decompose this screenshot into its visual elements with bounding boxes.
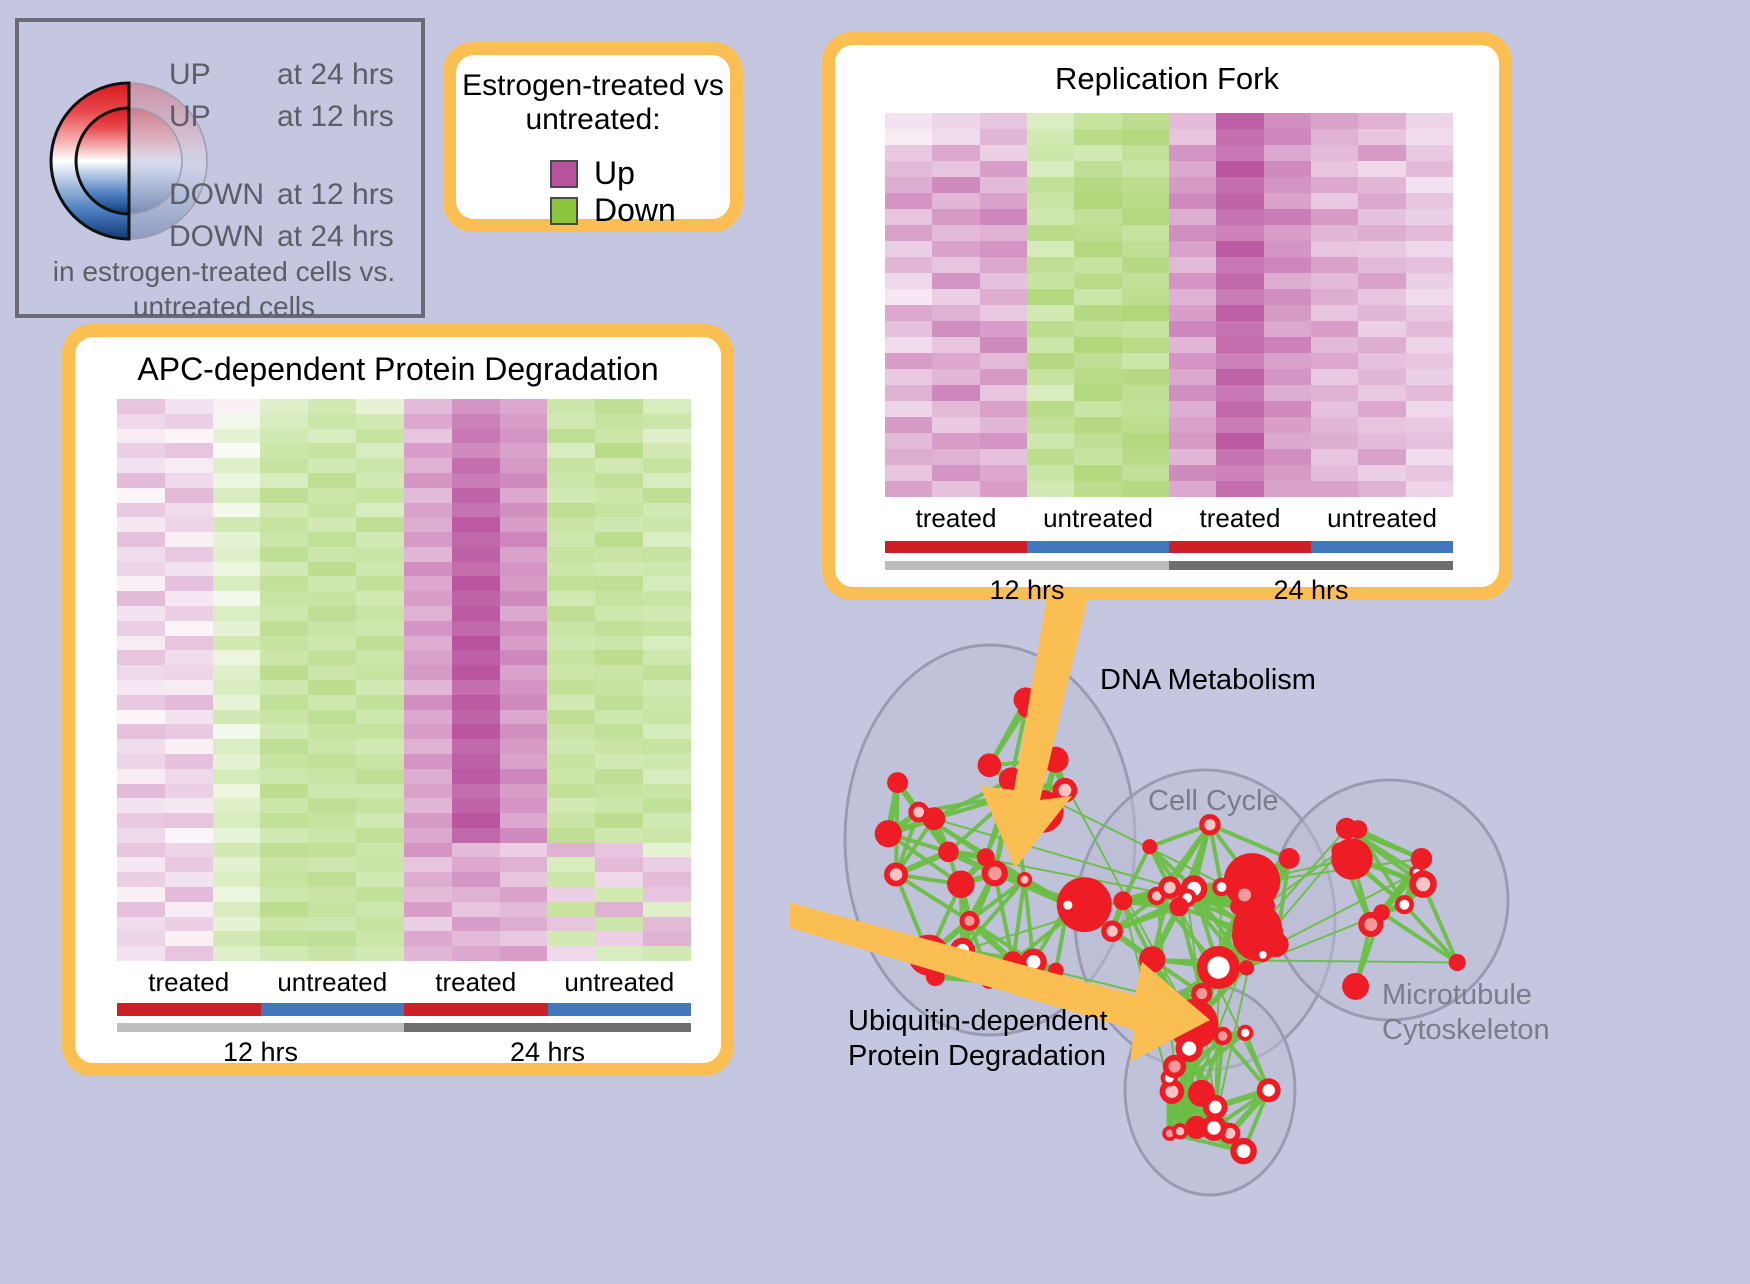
heatmap-cell <box>260 473 308 488</box>
heatmap-cell <box>1169 465 1216 481</box>
heatmap-cell <box>1311 369 1358 385</box>
heatmap-cell <box>165 547 213 562</box>
heatmap-cell <box>1027 369 1074 385</box>
heatmap-cell <box>1264 353 1311 369</box>
heatmap-cell <box>1216 433 1263 449</box>
heatmap-cell <box>595 887 643 902</box>
heatmap-cell <box>500 887 548 902</box>
heatmap-cell <box>117 458 165 473</box>
treatment-bar-segment <box>548 1003 692 1016</box>
heatmap-cell <box>165 739 213 754</box>
heatmap-cell <box>260 458 308 473</box>
heatmap-cell <box>1264 321 1311 337</box>
heatmap-cell <box>547 902 595 917</box>
heatmap-cell <box>452 414 500 429</box>
heatmap-cell <box>117 784 165 799</box>
heatmap-cell <box>452 503 500 518</box>
heatmap-cell <box>595 798 643 813</box>
heatmap-cell <box>980 449 1027 465</box>
heatmap-cell <box>356 710 404 725</box>
heatmap-cell <box>932 177 979 193</box>
heatmap-cell <box>165 695 213 710</box>
heatmap-cell <box>1406 481 1453 497</box>
heatmap-cell <box>1264 481 1311 497</box>
heatmap-cell <box>595 784 643 799</box>
heatmap-cell <box>1122 273 1169 289</box>
heatmap-cell <box>1169 241 1216 257</box>
legend-direction-rows: UP at 24 hrs UP at 12 hrs DOWN at 12 hrs… <box>169 58 419 262</box>
heatmap-cell <box>500 769 548 784</box>
heatmap-cell <box>117 872 165 887</box>
heatmap-cell <box>595 606 643 621</box>
heatmap-cell <box>500 917 548 932</box>
apc-time-bar <box>117 1023 691 1032</box>
heatmap-cell <box>308 784 356 799</box>
heatmap-cell <box>1216 369 1263 385</box>
heatmap-cell <box>404 724 452 739</box>
heatmap-cell <box>547 739 595 754</box>
heatmap-cell <box>117 414 165 429</box>
heatmap-cell <box>356 399 404 414</box>
heatmap-cell <box>1264 417 1311 433</box>
heatmap-cell <box>1264 289 1311 305</box>
heatmap-cell <box>260 665 308 680</box>
heatmap-cell <box>595 576 643 591</box>
heatmap-cell <box>547 931 595 946</box>
heatmap-cell <box>547 843 595 858</box>
heatmap-cell <box>213 754 261 769</box>
heatmap-cell <box>1074 433 1121 449</box>
heatmap-cell <box>932 273 979 289</box>
heatmap-cell <box>165 828 213 843</box>
heatmap-cell <box>595 857 643 872</box>
heatmap-cell <box>1406 177 1453 193</box>
heatmap-cell <box>595 813 643 828</box>
heatmap-cell <box>885 225 932 241</box>
heatmap-cell <box>117 754 165 769</box>
heatmap-cell <box>356 532 404 547</box>
heatmap-cell <box>1122 241 1169 257</box>
heatmap-cell <box>308 813 356 828</box>
heatmap-cell <box>1169 209 1216 225</box>
heatmap-cell <box>885 145 932 161</box>
heatmap-cell <box>213 399 261 414</box>
heatmap-cell <box>356 917 404 932</box>
heatmap-cell <box>595 591 643 606</box>
network-node <box>1255 896 1275 916</box>
heatmap-cell <box>1027 481 1074 497</box>
heatmap-cell <box>980 161 1027 177</box>
heatmap-cell <box>1406 417 1453 433</box>
heatmap-cell <box>1169 225 1216 241</box>
heatmap-cell <box>1027 129 1074 145</box>
heatmap-cell <box>213 902 261 917</box>
heatmap-cell <box>547 547 595 562</box>
heatmap-cell <box>595 665 643 680</box>
heatmap-cell <box>595 532 643 547</box>
heatmap-cell <box>117 917 165 932</box>
color-key-panel: Estrogen-treated vs untreated: Up Down <box>443 42 743 232</box>
heatmap-cell <box>643 828 691 843</box>
heatmap-cell <box>404 798 452 813</box>
heatmap-cell <box>404 695 452 710</box>
heatmap-cell <box>500 636 548 651</box>
heatmap-cell <box>595 458 643 473</box>
heatmap-cell <box>356 591 404 606</box>
heatmap-cell <box>404 547 452 562</box>
replication-fork-treatment-bar <box>885 541 1453 553</box>
heatmap-cell <box>1027 241 1074 257</box>
heatmap-cell <box>932 241 979 257</box>
legend-direction: DOWN <box>169 178 277 212</box>
treatment-bar-segment <box>117 1003 261 1016</box>
heatmap-cell <box>452 784 500 799</box>
panel-title: APC-dependent Protein Degradation <box>75 351 721 388</box>
heatmap-cell <box>547 917 595 932</box>
heatmap-cell <box>1027 257 1074 273</box>
heatmap-cell <box>932 337 979 353</box>
heatmap-cell <box>1074 369 1121 385</box>
heatmap-cell <box>1122 193 1169 209</box>
heatmap-cell <box>1169 401 1216 417</box>
heatmap-cell <box>1311 481 1358 497</box>
heatmap-cell <box>1216 193 1263 209</box>
heatmap-cell <box>932 209 979 225</box>
heatmap-cell <box>1027 161 1074 177</box>
heatmap-cell <box>500 473 548 488</box>
heatmap-cell <box>165 798 213 813</box>
heatmap-cell <box>1358 257 1405 273</box>
heatmap-cell <box>1311 257 1358 273</box>
heatmap-cell <box>1358 417 1405 433</box>
heatmap-cell <box>260 532 308 547</box>
legend-caption: in estrogen-treated cells vs. untreated … <box>41 254 407 324</box>
network-node <box>1342 973 1369 1000</box>
heatmap-cell <box>404 887 452 902</box>
heatmap-cell <box>356 621 404 636</box>
heatmap-cell <box>885 289 932 305</box>
heatmap-cell <box>165 754 213 769</box>
heatmap-cell <box>260 902 308 917</box>
treatment-bar-segment <box>404 1003 548 1016</box>
heatmap-cell <box>1358 129 1405 145</box>
heatmap-cell <box>356 503 404 518</box>
heatmap-cell <box>452 517 500 532</box>
time-label: 12 hrs <box>117 1037 404 1071</box>
heatmap-cell <box>356 636 404 651</box>
heatmap-cell <box>547 576 595 591</box>
heatmap-cell <box>404 828 452 843</box>
heatmap-cell <box>452 665 500 680</box>
heatmap-cell <box>1406 385 1453 401</box>
heatmap-cell <box>308 798 356 813</box>
heatmap-cell <box>500 813 548 828</box>
heatmap-cell <box>643 739 691 754</box>
heatmap-cell <box>1264 273 1311 289</box>
heatmap-cell <box>1358 321 1405 337</box>
heatmap-cell <box>356 443 404 458</box>
heatmap-cell <box>117 591 165 606</box>
heatmap-cell <box>1406 369 1453 385</box>
heatmap-cell <box>165 650 213 665</box>
heatmap-cell <box>500 591 548 606</box>
heatmap-cell <box>308 473 356 488</box>
heatmap-cell <box>1406 321 1453 337</box>
heatmap-cell <box>595 931 643 946</box>
heatmap-cell <box>1358 353 1405 369</box>
heatmap-cell <box>885 193 932 209</box>
heatmap-cell <box>980 145 1027 161</box>
apc-time-labels: 12 hrs24 hrs <box>117 1037 691 1071</box>
heatmap-cell <box>595 503 643 518</box>
heatmap-cell <box>1264 193 1311 209</box>
heatmap-cell <box>1358 305 1405 321</box>
heatmap-cell <box>1074 273 1121 289</box>
heatmap-cell <box>1074 129 1121 145</box>
heatmap-cell <box>356 754 404 769</box>
heatmap-cell <box>117 429 165 444</box>
heatmap-cell <box>260 636 308 651</box>
heatmap-cell <box>1406 465 1453 481</box>
heatmap-cell <box>1264 225 1311 241</box>
heatmap-cell <box>1358 465 1405 481</box>
heatmap-cell <box>1264 369 1311 385</box>
heatmap-cell <box>260 606 308 621</box>
heatmap-cell <box>165 843 213 858</box>
heatmap-cell <box>308 739 356 754</box>
heatmap-cell <box>117 488 165 503</box>
heatmap-cell <box>117 813 165 828</box>
heatmap-cell <box>404 769 452 784</box>
heatmap-cell <box>1169 113 1216 129</box>
network-node <box>887 772 908 793</box>
network-node-core <box>1021 876 1029 884</box>
heatmap-cell <box>404 946 452 961</box>
heatmap-cell <box>404 665 452 680</box>
heatmap-cell <box>500 532 548 547</box>
heatmap-cell <box>260 517 308 532</box>
heatmap-cell <box>117 843 165 858</box>
heatmap-cell <box>1406 257 1453 273</box>
heatmap-cell <box>452 710 500 725</box>
heatmap-cell <box>885 161 932 177</box>
heatmap-cell <box>260 872 308 887</box>
network-label-dna-metabolism: DNA Metabolism <box>1100 664 1316 697</box>
heatmap-cell <box>308 414 356 429</box>
heatmap-cell <box>595 710 643 725</box>
heatmap-cell <box>1406 289 1453 305</box>
heatmap-cell <box>1169 257 1216 273</box>
heatmap-cell <box>452 724 500 739</box>
heatmap-cell <box>213 695 261 710</box>
heatmap-cell <box>1122 257 1169 273</box>
heatmap-cell <box>643 917 691 932</box>
heatmap-cell <box>165 488 213 503</box>
heatmap-cell <box>404 562 452 577</box>
key-item-up: Up <box>550 155 676 192</box>
heatmap-cell <box>595 828 643 843</box>
heatmap-cell <box>165 429 213 444</box>
heatmap-cell <box>1216 257 1263 273</box>
heatmap-cell <box>1169 417 1216 433</box>
heatmap-cell <box>1027 273 1074 289</box>
heatmap-cell <box>1358 161 1405 177</box>
heatmap-cell <box>165 606 213 621</box>
heatmap-cell <box>643 857 691 872</box>
heatmap-cell <box>1169 177 1216 193</box>
heatmap-cell <box>1264 385 1311 401</box>
heatmap-cell <box>165 902 213 917</box>
heatmap-cell <box>404 902 452 917</box>
heatmap-cell <box>117 650 165 665</box>
heatmap-cell <box>1311 129 1358 145</box>
heatmap-cell <box>1264 337 1311 353</box>
heatmap-cell <box>213 946 261 961</box>
heatmap-cell <box>643 562 691 577</box>
heatmap-cell <box>308 917 356 932</box>
heatmap-cell <box>932 401 979 417</box>
heatmap-cell <box>1358 337 1405 353</box>
heatmap-cell <box>547 488 595 503</box>
network-node-core <box>1196 988 1207 999</box>
heatmap-cell <box>213 458 261 473</box>
heatmap-cell <box>980 385 1027 401</box>
heatmap-cell <box>165 872 213 887</box>
heatmap-cell <box>1216 337 1263 353</box>
heatmap-cell <box>452 636 500 651</box>
heatmap-cell <box>1216 417 1263 433</box>
heatmap-cell <box>356 517 404 532</box>
heatmap-cell <box>500 650 548 665</box>
heatmap-cell <box>356 650 404 665</box>
heatmap-cell <box>1216 113 1263 129</box>
heatmap-cell <box>117 946 165 961</box>
heatmap-cell <box>260 813 308 828</box>
heatmap-cell <box>404 843 452 858</box>
legend-time: at 24 hrs <box>277 220 394 254</box>
heatmap-cell <box>643 931 691 946</box>
heatmap-cell <box>547 887 595 902</box>
heatmap-cell <box>404 680 452 695</box>
heatmap-cell <box>885 257 932 273</box>
heatmap-cell <box>213 636 261 651</box>
heatmap-cell <box>117 695 165 710</box>
heatmap-cell <box>117 710 165 725</box>
heatmap-cell <box>165 399 213 414</box>
heatmap-cell <box>595 399 643 414</box>
heatmap-cell <box>213 769 261 784</box>
heatmap-cell <box>117 576 165 591</box>
network-node-core <box>1262 1084 1274 1096</box>
heatmap-cell <box>643 517 691 532</box>
heatmap-cell <box>1169 161 1216 177</box>
heatmap-cell <box>500 665 548 680</box>
heatmap-cell <box>932 305 979 321</box>
heatmap-cell <box>1264 257 1311 273</box>
heatmap-cell <box>260 576 308 591</box>
heatmap-cell <box>260 798 308 813</box>
heatmap-cell <box>213 724 261 739</box>
heatmap-cell <box>356 813 404 828</box>
heatmap-cell <box>980 401 1027 417</box>
heatmap-cell <box>260 429 308 444</box>
heatmap-cell <box>213 813 261 828</box>
heatmap-cell <box>117 399 165 414</box>
heatmap-cell <box>1074 113 1121 129</box>
network-node-core <box>913 807 924 818</box>
heatmap-cell <box>404 532 452 547</box>
heatmap-cell <box>1074 193 1121 209</box>
heatmap-cell <box>500 429 548 444</box>
heatmap-cell <box>404 784 452 799</box>
heatmap-cell <box>932 417 979 433</box>
heatmap-cell <box>1169 337 1216 353</box>
heatmap-cell <box>452 576 500 591</box>
heatmap-cell <box>1122 177 1169 193</box>
heatmap-cell <box>1074 417 1121 433</box>
heatmap-cell <box>356 695 404 710</box>
heatmap-cell <box>452 887 500 902</box>
heatmap-cell <box>452 828 500 843</box>
network-node-core <box>1058 784 1071 797</box>
heatmap-cell <box>356 784 404 799</box>
heatmap-cell <box>404 813 452 828</box>
heatmap-cell <box>1074 177 1121 193</box>
heatmap-cell <box>980 321 1027 337</box>
heatmap-cell <box>308 517 356 532</box>
heatmap-cell <box>643 503 691 518</box>
heatmap-cell <box>356 798 404 813</box>
heatmap-cell <box>595 872 643 887</box>
heatmap-cell <box>1216 305 1263 321</box>
heatmap-cell <box>1122 353 1169 369</box>
heatmap-cell <box>1074 465 1121 481</box>
heatmap-cell <box>213 621 261 636</box>
heatmap-cell <box>980 417 1027 433</box>
heatmap-cell <box>308 857 356 872</box>
heatmap-cell <box>500 872 548 887</box>
heatmap-cell <box>213 429 261 444</box>
heatmap-cell <box>1358 385 1405 401</box>
heatmap-cell <box>308 606 356 621</box>
time-bar-segment <box>117 1023 404 1032</box>
heatmap-cell <box>980 481 1027 497</box>
heatmap-cell <box>932 369 979 385</box>
legend-direction: DOWN <box>169 220 277 254</box>
heatmap-cell <box>260 443 308 458</box>
heatmap-cell <box>1122 209 1169 225</box>
heatmap-cell <box>980 305 1027 321</box>
heatmap-cell <box>1216 449 1263 465</box>
heatmap-cell <box>260 503 308 518</box>
heatmap-cell <box>1264 161 1311 177</box>
heatmap-cell <box>356 887 404 902</box>
treatment-bar-segment <box>261 1003 405 1016</box>
heatmap-cell <box>1264 305 1311 321</box>
heatmap-cell <box>1027 337 1074 353</box>
heatmap-cell <box>547 857 595 872</box>
heatmap-cell <box>165 857 213 872</box>
heatmap-cell <box>1122 417 1169 433</box>
heatmap-cell <box>1122 113 1169 129</box>
heatmap-cell <box>885 321 932 337</box>
heatmap-cell <box>885 417 932 433</box>
heatmap-cell <box>356 429 404 444</box>
heatmap-cell <box>117 798 165 813</box>
heatmap-cell <box>1169 289 1216 305</box>
apc-group-labels: treateduntreatedtreateduntreated <box>117 967 691 999</box>
heatmap-cell <box>547 680 595 695</box>
